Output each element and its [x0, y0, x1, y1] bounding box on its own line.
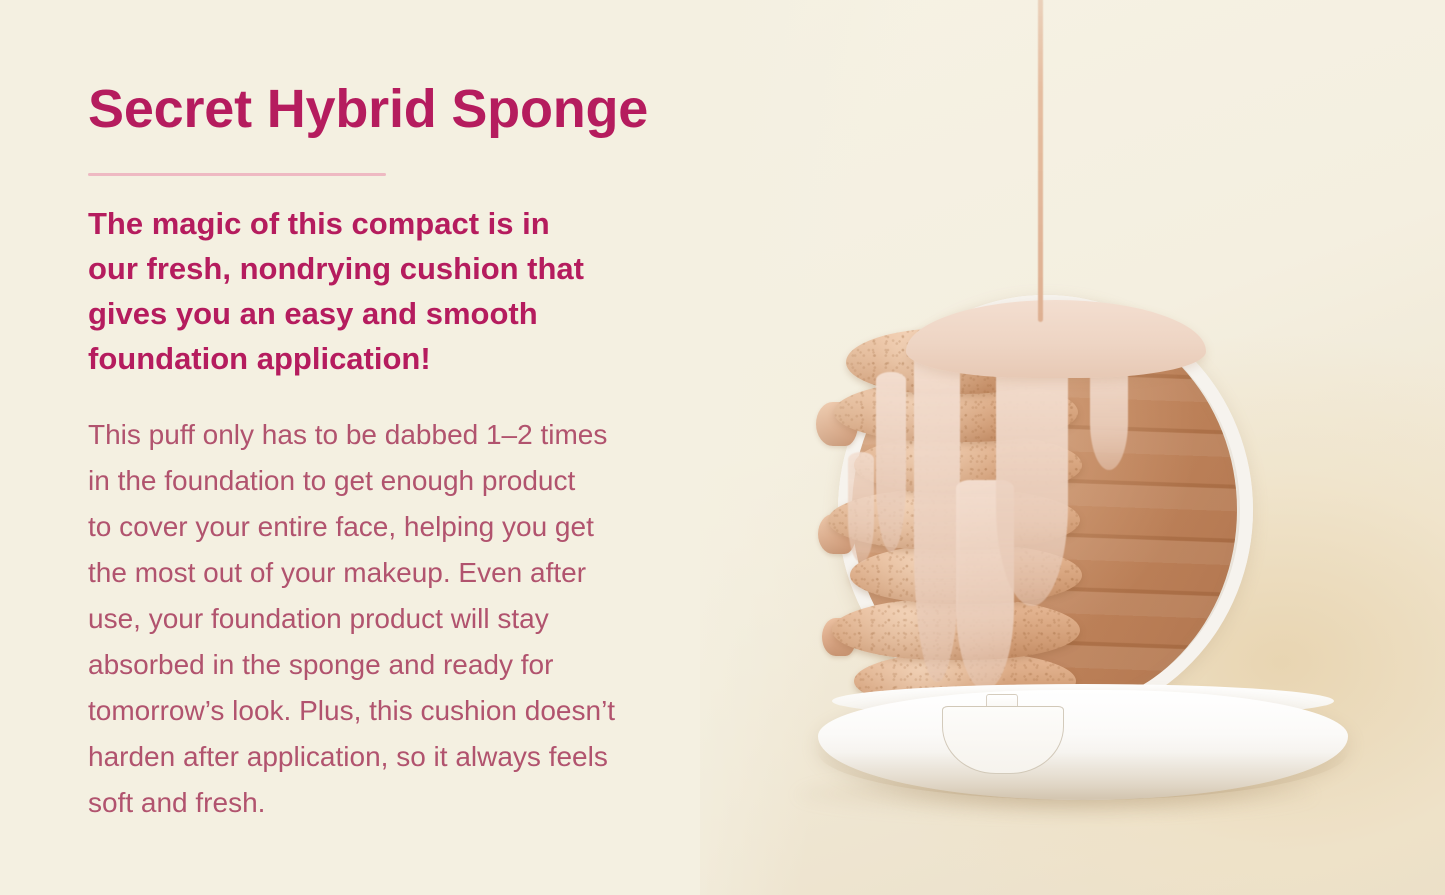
body-line: This puff only has to be dabbed 1–2 time… [88, 412, 760, 458]
subhead-line: gives you an easy and smooth [88, 291, 736, 336]
title-divider [88, 173, 386, 176]
subhead-line: The magic of this compact is in [88, 201, 736, 246]
body-line: to cover your entire face, helping you g… [88, 504, 760, 550]
page-title: Secret Hybrid Sponge [88, 78, 648, 140]
subhead-line: foundation application! [88, 336, 736, 381]
subhead-line: our fresh, nondrying cushion that [88, 246, 736, 291]
body-line: the most out of your makeup. Even after [88, 550, 760, 596]
product-feature-banner: Secret Hybrid Sponge The magic of this c… [0, 0, 1445, 895]
body-line: in the foundation to get enough product [88, 458, 760, 504]
body-copy: This puff only has to be dabbed 1–2 time… [88, 412, 760, 826]
photo-left-fade [700, 0, 1445, 895]
product-photo [700, 0, 1445, 895]
body-line: soft and fresh. [88, 780, 760, 826]
body-line: tomorrow’s look. Plus, this cushion does… [88, 688, 760, 734]
body-line: absorbed in the sponge and ready for [88, 642, 760, 688]
body-line: harden after application, so it always f… [88, 734, 760, 780]
body-line: use, your foundation product will stay [88, 596, 760, 642]
subhead: The magic of this compact is in our fres… [88, 201, 736, 381]
text-column: Secret Hybrid Sponge The magic of this c… [88, 0, 788, 895]
